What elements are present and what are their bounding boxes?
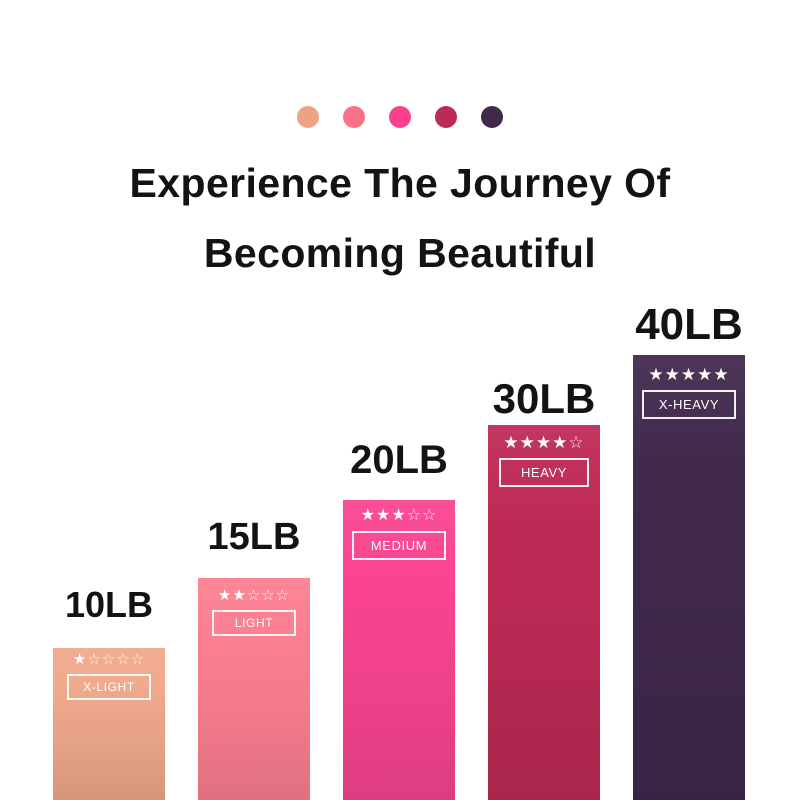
star-empty-icon: ☆ [102,652,116,667]
star-filled-icon: ★ [218,588,232,603]
star-filled-icon: ★ [520,434,536,451]
star-filled-icon: ★ [361,508,376,524]
star-rating: ★☆☆☆☆ [73,652,145,667]
star-empty-icon: ☆ [568,434,584,451]
star-filled-icon: ★ [681,366,697,383]
bar-weight-label: 30LB [493,378,596,420]
bar-badge: ★★☆☆☆LIGHT [198,588,310,636]
star-empty-icon: ☆ [276,588,290,603]
resistance-level-badge: HEAVY [499,458,589,487]
resistance-level-badge: X-HEAVY [642,390,736,419]
star-rating: ★★☆☆☆ [218,588,290,603]
star-filled-icon: ★ [376,508,391,524]
star-empty-icon: ☆ [247,588,261,603]
star-empty-icon: ☆ [131,652,145,667]
resistance-bar-chart: 10LB★☆☆☆☆X-LIGHT15LB★★☆☆☆LIGHT20LB★★★☆☆M… [0,0,800,800]
bar-gradient-overlay [633,355,745,800]
bar-badge: ★★★★★X-HEAVY [633,366,745,419]
resistance-level-badge: X-LIGHT [67,674,151,700]
bar-badge: ★★★☆☆MEDIUM [343,508,455,560]
star-filled-icon: ★ [503,434,519,451]
resistance-level-badge: LIGHT [212,610,296,636]
star-rating: ★★★★☆ [503,434,584,451]
star-filled-icon: ★ [697,366,713,383]
bar-badge: ★☆☆☆☆X-LIGHT [53,652,165,700]
star-empty-icon: ☆ [87,652,101,667]
star-empty-icon: ☆ [422,508,437,524]
bar-weight-label: 20LB [350,440,448,480]
star-rating: ★★★☆☆ [361,508,438,524]
star-filled-icon: ★ [536,434,552,451]
star-empty-icon: ☆ [407,508,422,524]
bar-weight-label: 15LB [208,518,301,556]
star-rating: ★★★★★ [648,366,729,383]
resistance-level-badge: MEDIUM [352,531,446,560]
star-filled-icon: ★ [391,508,406,524]
bar-weight-label: 10LB [65,587,153,623]
bar-weight-label: 40LB [635,303,743,347]
resistance-band-infographic: Experience The Journey Of Becoming Beaut… [0,0,800,800]
star-filled-icon: ★ [713,366,729,383]
star-empty-icon: ☆ [116,652,130,667]
bar-group[interactable] [633,355,745,800]
star-filled-icon: ★ [665,366,681,383]
star-filled-icon: ★ [232,588,246,603]
bar-column[interactable] [633,355,745,800]
star-filled-icon: ★ [73,652,87,667]
star-filled-icon: ★ [552,434,568,451]
star-empty-icon: ☆ [261,588,275,603]
star-filled-icon: ★ [648,366,664,383]
bar-badge: ★★★★☆HEAVY [488,434,600,487]
